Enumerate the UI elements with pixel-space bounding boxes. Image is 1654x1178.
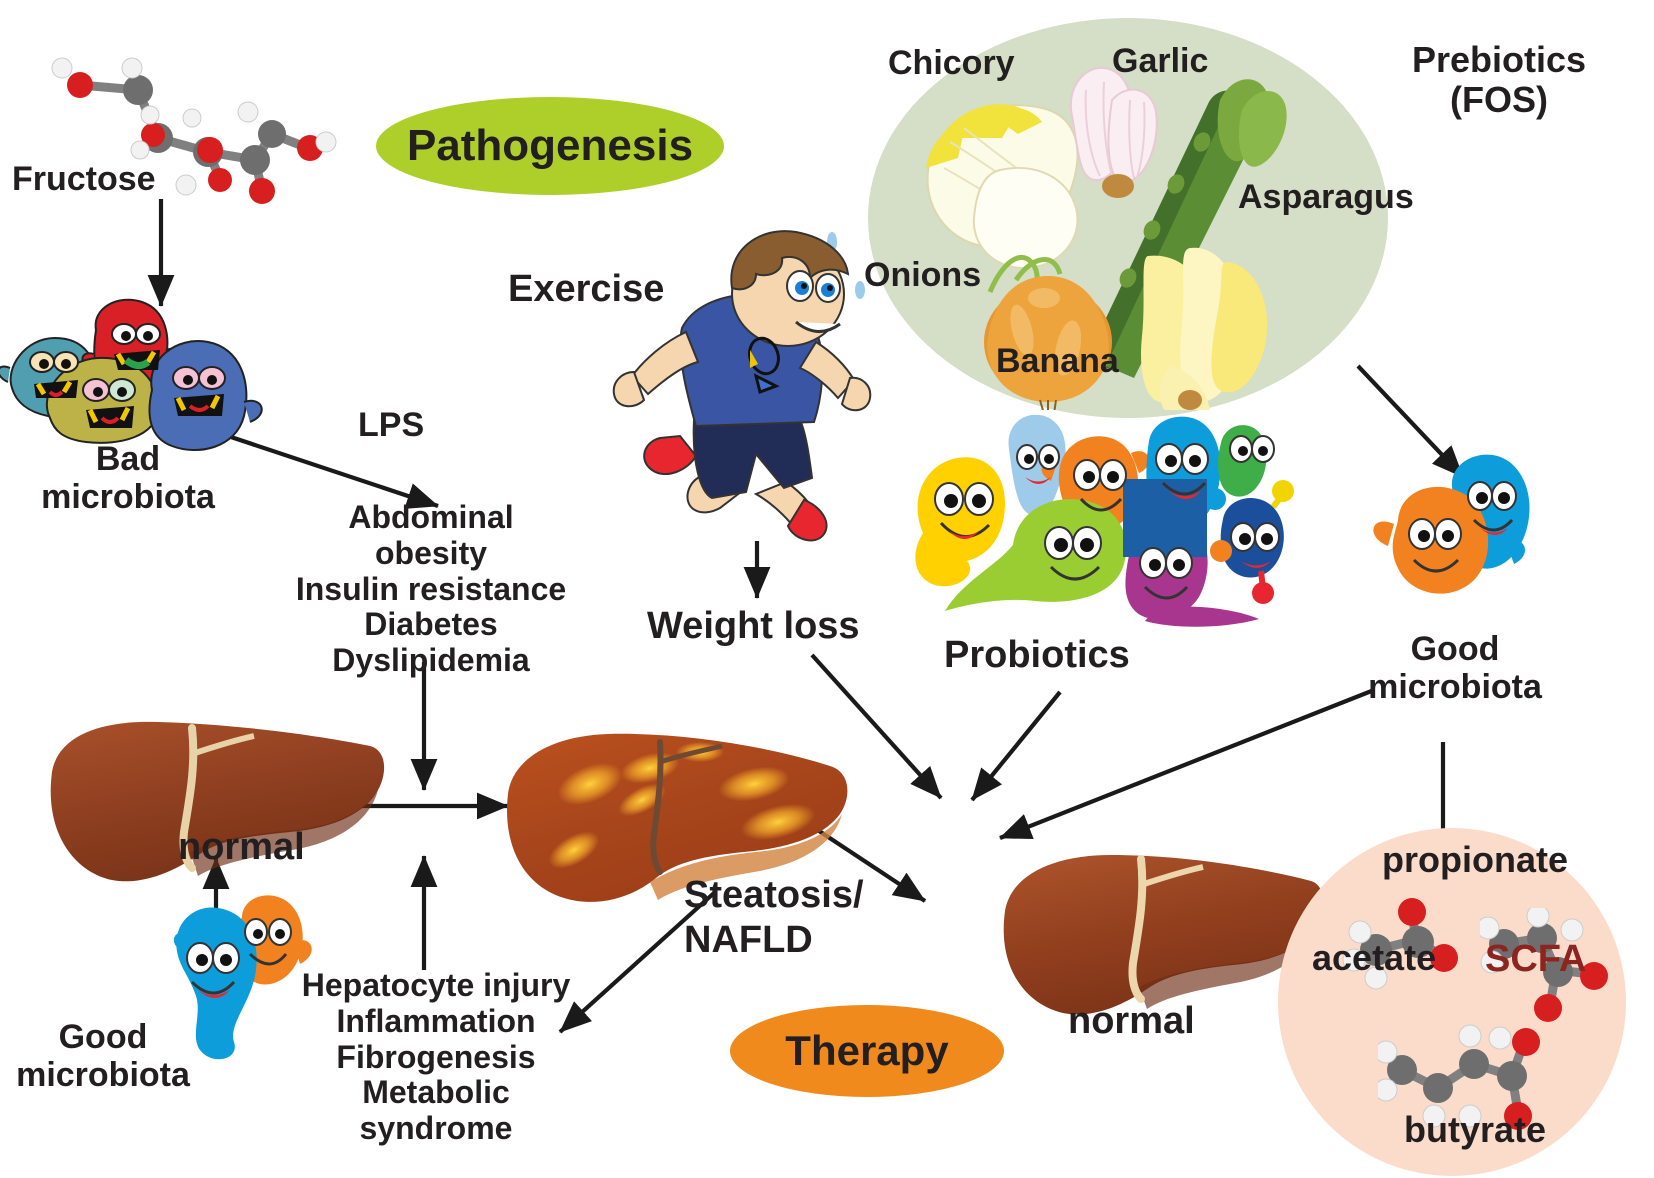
scfa-label: SCFA xyxy=(1485,938,1586,981)
food-label-garlic: Garlic xyxy=(1112,42,1208,80)
food-label-chicory: Chicory xyxy=(888,44,1015,82)
propionate-label: propionate xyxy=(1382,840,1568,880)
liver-normal-left xyxy=(40,712,390,912)
therapy-badge-label: Therapy xyxy=(785,1027,948,1075)
pathogenesis-list-item-1: Insulin resistance xyxy=(288,572,574,608)
butyrate-label: butyrate xyxy=(1404,1110,1546,1150)
pathogenesis-badge: Pathogenesis xyxy=(376,97,724,195)
lps-label: LPS xyxy=(358,406,424,444)
prebiotics-label: Prebiotics (FOS) xyxy=(1354,40,1644,121)
good-microbiota-right-label: Good microbiota xyxy=(1340,630,1570,706)
therapy-badge: Therapy xyxy=(730,1005,1004,1097)
injury-list-item-3: Metabolic syndrome xyxy=(286,1075,586,1147)
good-microbiota-right-illustration xyxy=(1356,448,1556,648)
pathogenesis-list-item-0: Abdominal obesity xyxy=(288,500,574,572)
normal-left-label: normal xyxy=(178,826,305,869)
acetate-label: acetate xyxy=(1312,938,1436,978)
injury-list: Hepatocyte injury Inflammation Fibrogene… xyxy=(286,968,586,1147)
pathogenesis-list-item-3: Dyslipidemia xyxy=(288,643,574,679)
pathogenesis-badge-label: Pathogenesis xyxy=(407,121,693,171)
figure-canvas: Fructose xyxy=(0,0,1654,1178)
food-label-asparagus: Asparagus xyxy=(1238,178,1414,216)
steatosis-label: Steatosis/ NAFLD xyxy=(684,873,864,963)
injury-list-item-1: Inflammation xyxy=(286,1004,586,1040)
bad-microbiota-label: Bad microbiota xyxy=(28,440,228,516)
injury-list-item-2: Fibrogenesis xyxy=(286,1040,586,1076)
probiotics-label: Probiotics xyxy=(944,634,1130,677)
normal-right-label: normal xyxy=(1068,1000,1195,1043)
food-label-banana: Banana xyxy=(996,342,1119,380)
good-microbiota-left-label: Good microbiota xyxy=(10,1018,196,1094)
pathogenesis-list: Abdominal obesity Insulin resistance Dia… xyxy=(288,500,574,679)
injury-list-item-0: Hepatocyte injury xyxy=(286,968,586,1004)
prebiotic-foods-illustration xyxy=(890,30,1370,410)
pathogenesis-list-item-2: Diabetes xyxy=(288,607,574,643)
probiotics-illustration xyxy=(905,415,1305,635)
weight-loss-label: Weight loss xyxy=(647,605,860,648)
running-boy-illustration xyxy=(560,230,890,550)
food-label-onions: Onions xyxy=(864,256,981,294)
fructose-label: Fructose xyxy=(12,160,156,198)
